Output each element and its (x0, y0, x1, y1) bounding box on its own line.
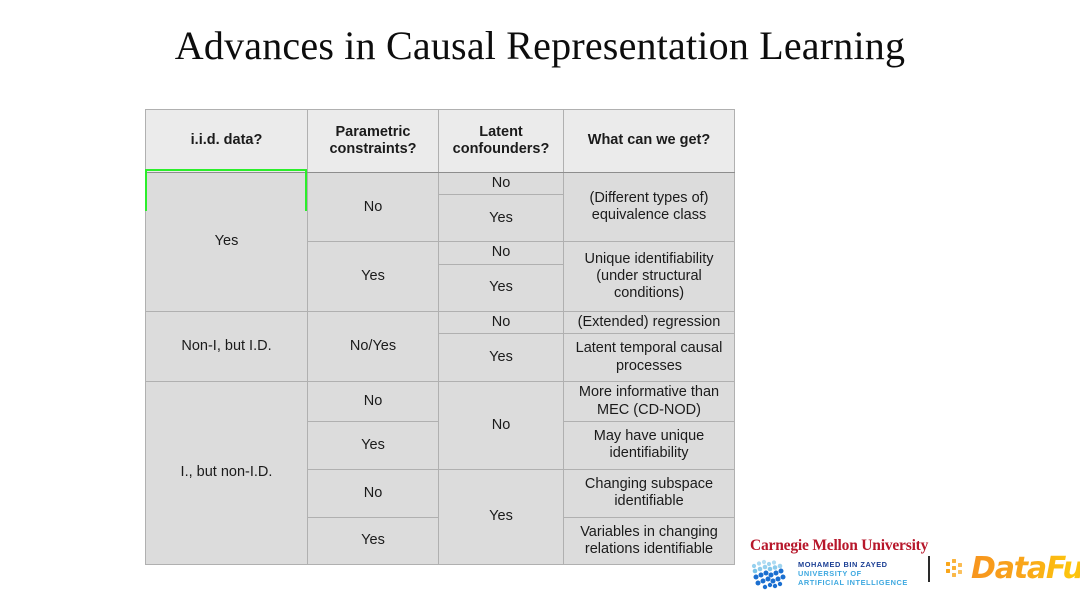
mbzuai-mark-icon (750, 559, 792, 591)
cell-result-changing-subspace: Changing subspace identifiable (564, 469, 735, 517)
datafun-logo: DataFun. (944, 550, 1080, 588)
cell-latent-yes: Yes (439, 469, 564, 564)
cell-iid-non-i-but-id: Non-I, but I.D. (146, 311, 308, 381)
cell-result-equivalence-class: (Different types of) equivalence class (564, 173, 735, 242)
mbzuai-line-3: ARTIFICIAL INTELLIGENCE (798, 579, 908, 588)
mbzuai-wordmark: MOHAMED BIN ZAYED UNIVERSITY OF ARTIFICI… (798, 561, 908, 587)
cell-iid-i-but-non-id: I., but non-I.D. (146, 382, 308, 565)
cell-latent-no: No (439, 242, 564, 264)
cell-parametric-no: No (308, 382, 439, 422)
datafun-dots-icon (944, 556, 970, 582)
causal-representation-table: i.i.d. data? Parametric constraints? Lat… (145, 109, 735, 565)
cell-latent-no: No (439, 311, 564, 333)
table-header-row: i.i.d. data? Parametric constraints? Lat… (146, 110, 735, 173)
cell-parametric-yes: Yes (308, 421, 439, 469)
cell-result-variables-changing-relations: Variables in changing relations identifi… (564, 517, 735, 564)
column-header-parametric: Parametric constraints? (308, 110, 439, 173)
mbzuai-logo: MOHAMED BIN ZAYED UNIVERSITY OF ARTIFICI… (750, 559, 925, 591)
logo-bar: Carnegie Mellon University (750, 538, 1070, 602)
cell-parametric-no: No (308, 173, 439, 242)
cell-parametric-yes: Yes (308, 517, 439, 564)
page-title: Advances in Causal Representation Learni… (0, 22, 1080, 69)
column-header-result: What can we get? (564, 110, 735, 173)
university-logos: Carnegie Mellon University (750, 538, 925, 591)
cell-result-unique-identifiability: Unique identifiability (under structural… (564, 242, 735, 311)
column-header-iid: i.i.d. data? (146, 110, 308, 173)
cell-parametric-no: No (308, 469, 439, 517)
table-row: Non-I, but I.D. No/Yes No (Extended) reg… (146, 311, 735, 333)
cell-latent-yes: Yes (439, 334, 564, 382)
table-row: Yes No No (Different types of) equivalen… (146, 173, 735, 195)
cell-result-more-informative-mec: More informative than MEC (CD-NOD) (564, 382, 735, 422)
cell-latent-no: No (439, 382, 564, 470)
cell-latent-yes: Yes (439, 264, 564, 311)
comparison-table-container: i.i.d. data? Parametric constraints? Lat… (145, 109, 734, 598)
table-row: I., but non-I.D. No No More informative … (146, 382, 735, 422)
cell-result-may-have-unique-identifiability: May have unique identifiability (564, 421, 735, 469)
cell-latent-yes: Yes (439, 195, 564, 242)
cell-latent-no: No (439, 173, 564, 195)
carnegie-mellon-logo: Carnegie Mellon University (750, 538, 925, 554)
cell-result-latent-temporal: Latent temporal causal processes (564, 334, 735, 382)
datafun-wordmark: DataFun. (971, 554, 1080, 584)
column-header-latent: Latent confounders? (439, 110, 564, 173)
cell-result-extended-regression: (Extended) regression (564, 311, 735, 333)
cell-parametric-yes: Yes (308, 242, 439, 311)
cell-parametric-no-yes: No/Yes (308, 311, 439, 381)
logo-divider (928, 556, 930, 582)
cell-iid-yes: Yes (146, 173, 308, 312)
